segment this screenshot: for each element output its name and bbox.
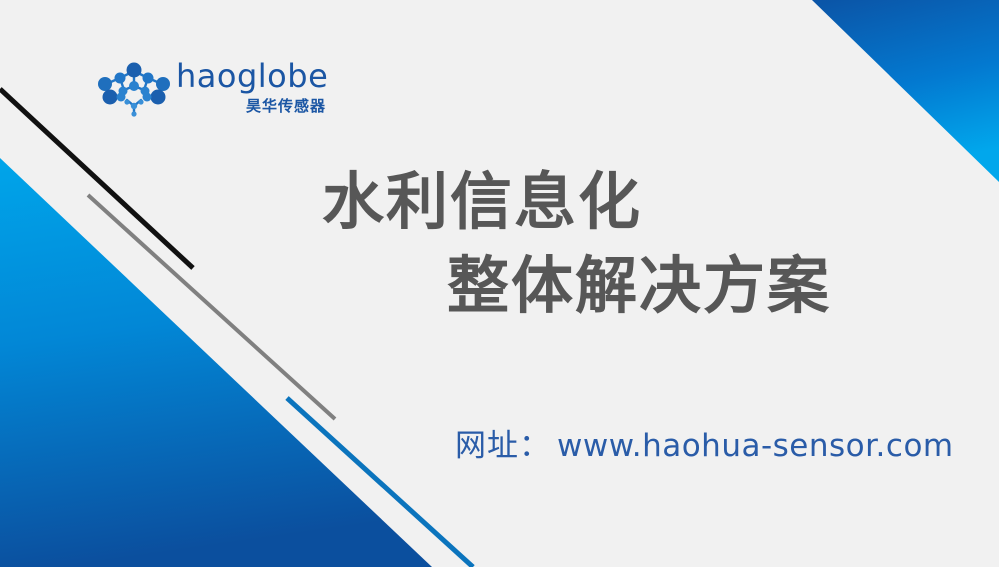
logo-wordmark: haoglobe [176,58,326,94]
haoglobe-network-dots-icon [96,62,172,120]
title-line-2: 整体解决方案 [0,244,999,328]
top-right-triangle [812,0,999,182]
title-line-1: 水利信息化 [0,160,999,244]
website-label: 网址： [455,428,551,464]
logo-subtext: 昊华传感器 [176,96,326,116]
slide-title: 水利信息化 整体解决方案 [0,160,999,328]
presentation-slide: haoglobe 昊华传感器 水利信息化 整体解决方案 网址：www.haohu… [0,0,999,567]
company-logo: haoglobe 昊华传感器 [96,58,326,124]
logo-text: haoglobe 昊华传感器 [176,58,326,116]
website-url[interactable]: www.haohua-sensor.com [557,428,954,464]
website-line: 网址：www.haohua-sensor.com [455,420,954,465]
